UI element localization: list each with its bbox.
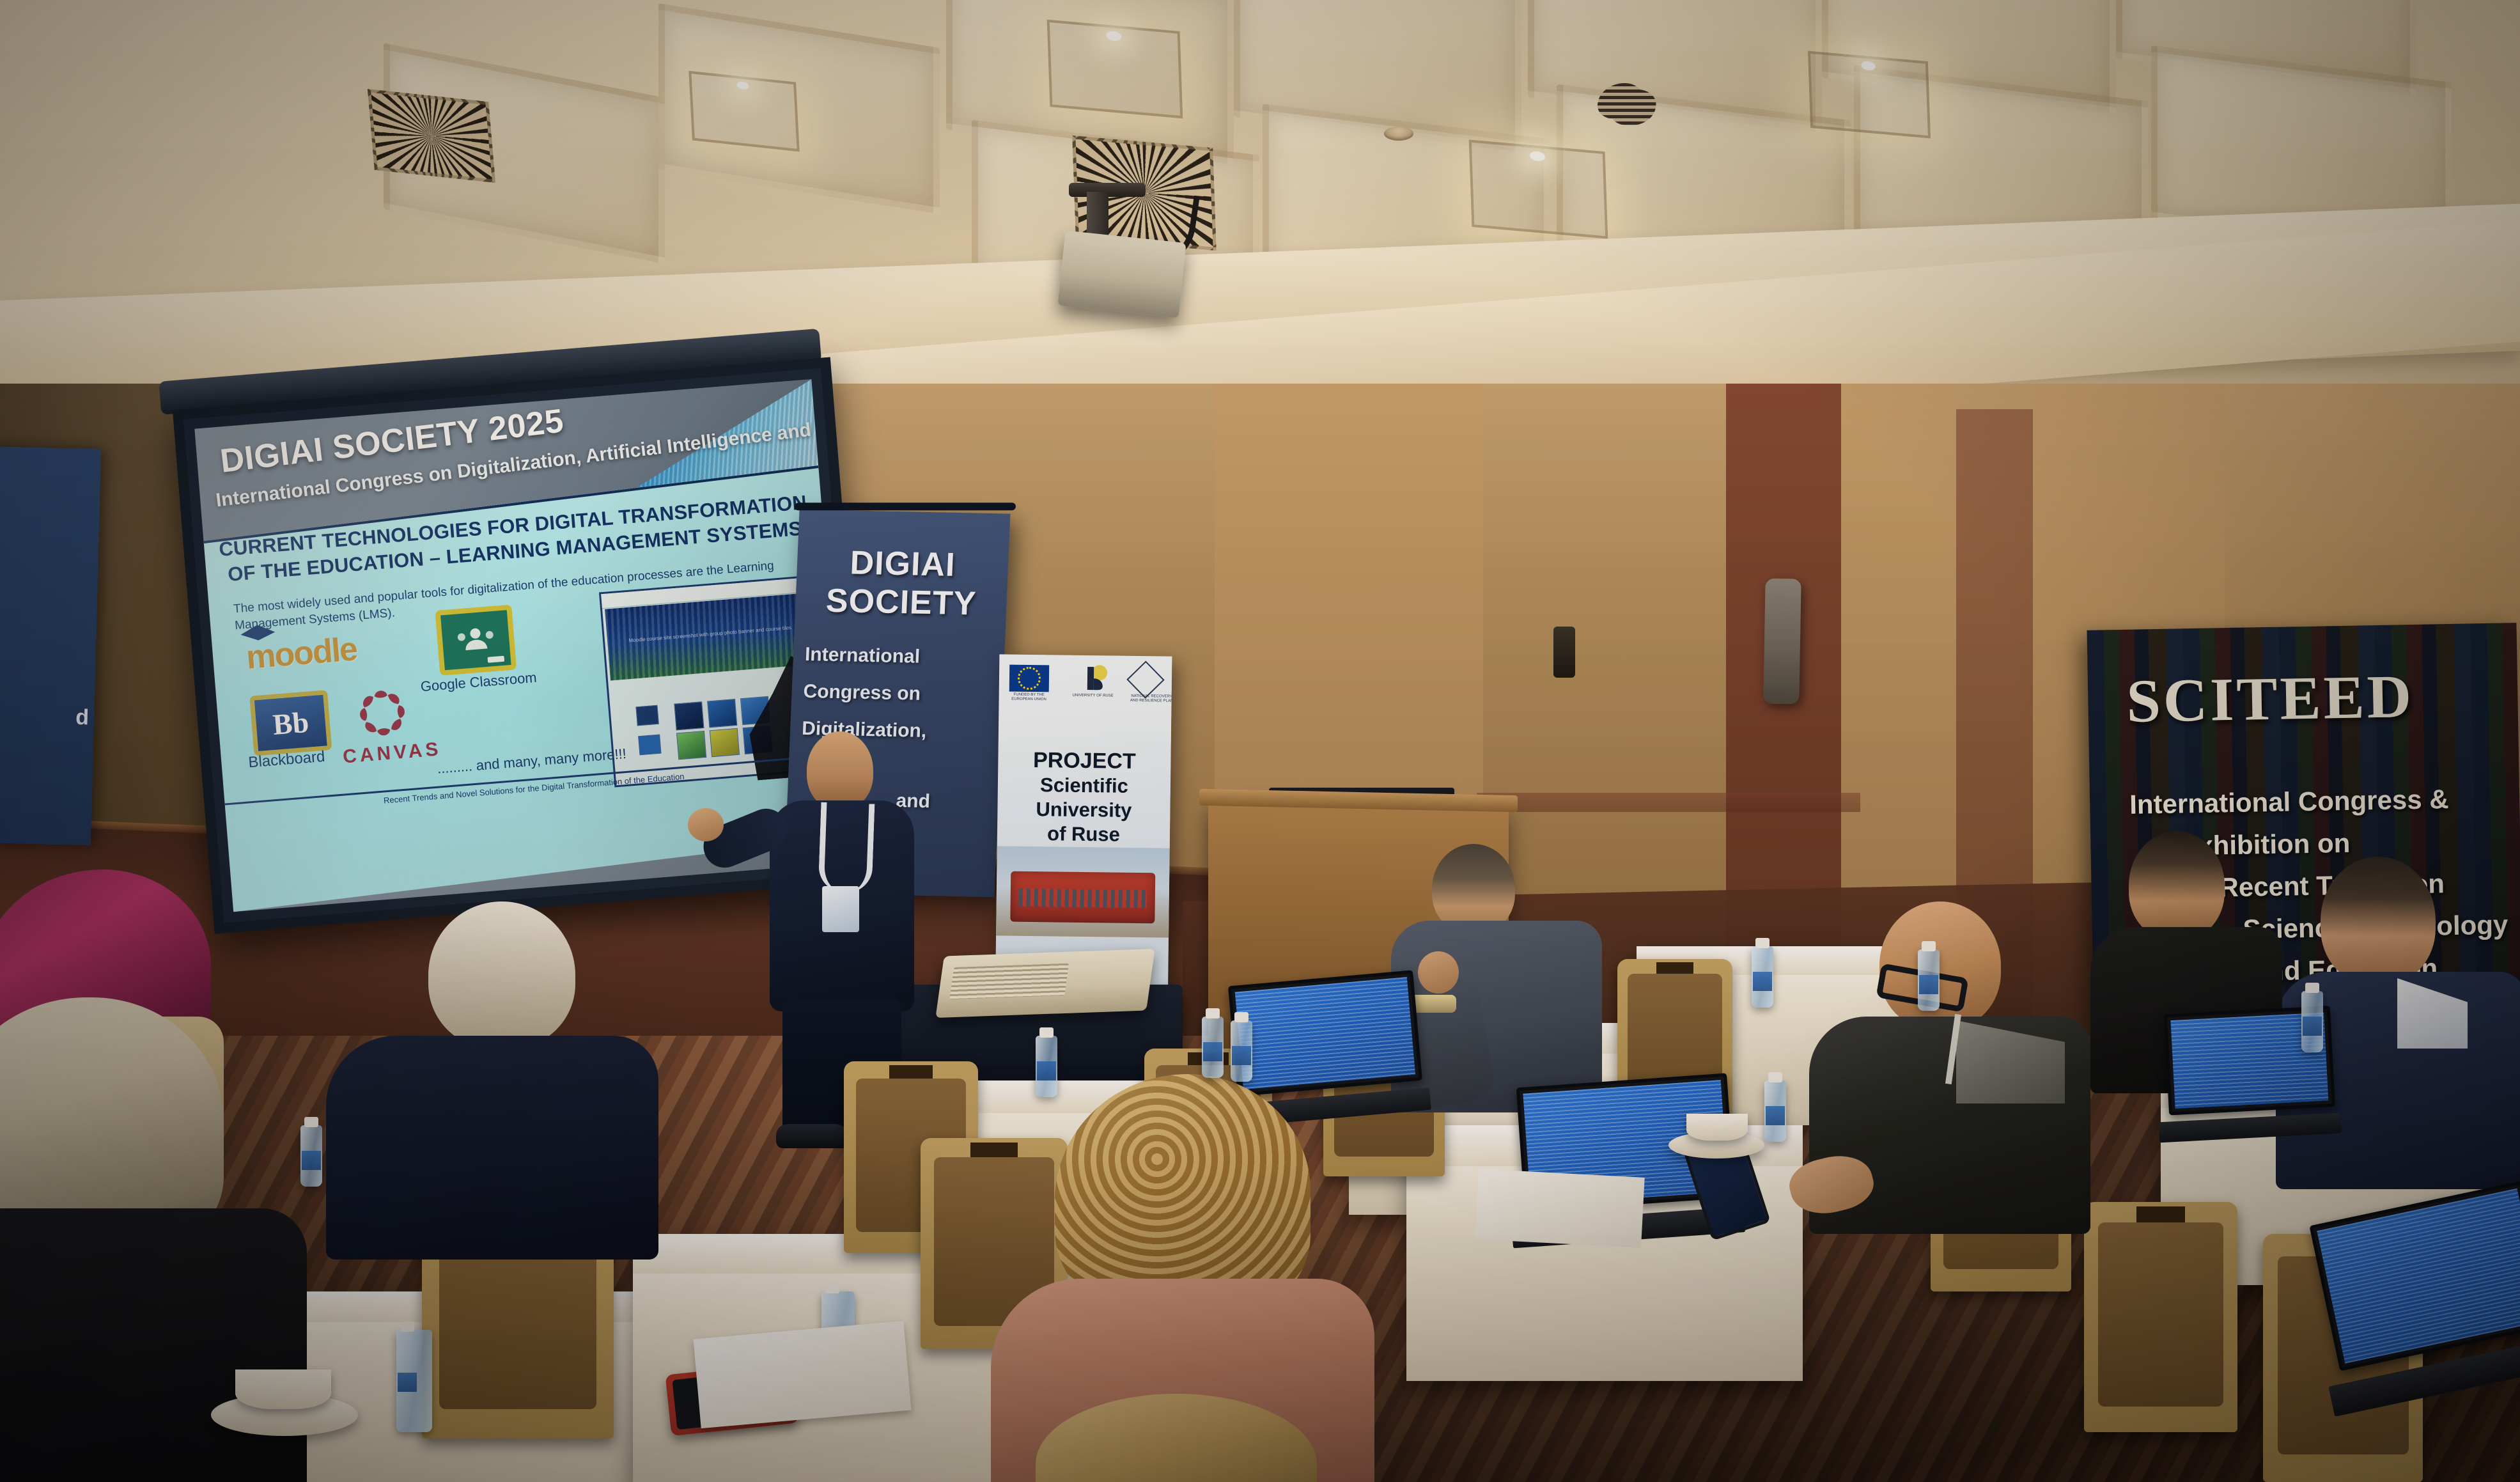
banner-left-text: d xyxy=(75,705,89,731)
presenter-shoe xyxy=(776,1124,852,1148)
course-tile xyxy=(674,701,704,730)
attendee-torso xyxy=(326,1036,658,1260)
banner-left-partial: d xyxy=(0,446,101,846)
coffee-cup xyxy=(235,1369,331,1409)
presenter-head xyxy=(807,731,873,809)
portable-projector xyxy=(935,949,1155,1018)
building-windows xyxy=(1019,889,1147,909)
eraser-icon xyxy=(488,656,505,663)
moodle-logo: moodle xyxy=(245,630,358,677)
presenter-badge xyxy=(822,886,859,932)
ceiling-downlight xyxy=(1047,20,1183,119)
chair-notch xyxy=(1656,962,1693,989)
water-bottle xyxy=(2301,991,2323,1052)
hvac-vent-icon xyxy=(368,89,495,183)
nrrp-logo-icon xyxy=(1126,660,1164,698)
banner-project-logos: FUNDED BY THE EUROPEAN UNION UNIVERSITY … xyxy=(999,664,1172,705)
water-bottle xyxy=(1764,1080,1786,1142)
blackboard-mark: Bb xyxy=(254,695,327,751)
water-bottle xyxy=(300,1125,322,1187)
attendee-head xyxy=(2129,831,2225,940)
water-bottle xyxy=(1752,946,1773,1008)
attendee-lanyard xyxy=(1945,1014,2016,1092)
banner-digiai-title2: SOCIETY xyxy=(795,581,1007,624)
google-classroom-label: Google Classroom xyxy=(420,669,538,696)
attendee-head xyxy=(1036,1394,1317,1482)
presenter-hand xyxy=(688,808,724,841)
course-tile xyxy=(707,699,737,728)
ceiling-downlight xyxy=(688,71,799,152)
ceiling-projector xyxy=(1057,230,1186,318)
wall-fixture xyxy=(1553,627,1575,678)
google-classroom-logo xyxy=(435,605,517,676)
eu-logo-caption: FUNDED BY THE EUROPEAN UNION xyxy=(1007,693,1052,702)
banner-project-line2: Scientific xyxy=(998,773,1171,798)
water-bottle xyxy=(396,1330,432,1432)
banquet-chair xyxy=(2084,1202,2237,1432)
banner-digiai-sub1: International xyxy=(804,644,999,669)
banner-rod xyxy=(795,503,1016,510)
attendee-head xyxy=(1432,844,1515,933)
blackboard-logo: Bb xyxy=(249,690,332,756)
banner-project-building-photo xyxy=(996,846,1170,937)
sprinkler-icon xyxy=(1384,127,1413,141)
attendee-head xyxy=(428,901,575,1049)
water-bottle xyxy=(1918,949,1940,1011)
attendee-white-hair xyxy=(307,901,665,1260)
banner-sciteed-line1: International Congress & xyxy=(2129,784,2449,820)
ruse-logo-caption: UNIVERSITY OF RUSE xyxy=(1071,694,1116,698)
water-bottle xyxy=(1036,1036,1057,1097)
attendee-hand xyxy=(1418,951,1459,994)
laptop-screen xyxy=(1235,977,1415,1089)
wall-speaker xyxy=(1763,579,1801,705)
water-bottle xyxy=(1231,1020,1252,1082)
attendee-front-row xyxy=(1036,1394,1330,1482)
canvas-logo xyxy=(355,686,409,740)
banner-digiai-title1: DIGIAI xyxy=(797,543,1009,586)
screenshot-hero-caption: Moodle course site screenshot with group… xyxy=(628,625,791,643)
banner-project-line4: of Ruse xyxy=(997,822,1170,846)
building-shape xyxy=(1010,871,1156,923)
water-bottle xyxy=(1202,1017,1224,1078)
chair-notch xyxy=(2136,1206,2186,1244)
course-tile xyxy=(635,705,658,726)
banner-sciteed-title: SCITEED xyxy=(2126,658,2520,737)
ceiling-downlight xyxy=(1808,51,1931,139)
banner-project-line1: PROJECT xyxy=(998,747,1171,774)
eu-stars-icon xyxy=(1018,667,1041,690)
projector-vent-icon xyxy=(949,963,1069,1000)
nrrp-logo-caption: NATIONAL RECOVERY AND RESILIENCE PLAN xyxy=(1130,694,1172,703)
notepaper xyxy=(1475,1169,1644,1247)
notepaper xyxy=(694,1321,912,1428)
ceiling-downlight xyxy=(1469,139,1608,238)
university-of-ruse-logo xyxy=(1080,664,1111,693)
attendee-torso xyxy=(0,1208,307,1482)
conference-room-photo: d DIGIAI SOCIETY 2025 International Cong… xyxy=(0,0,2520,1482)
coffee-cup xyxy=(1686,1114,1748,1141)
chair-notch xyxy=(889,1065,932,1096)
people-icon xyxy=(455,626,497,652)
banner-project-line3: University xyxy=(997,797,1170,822)
attendee-head xyxy=(2321,857,2436,985)
eu-flag-icon xyxy=(1009,665,1050,692)
banner-digiai-sub2: Congress on xyxy=(803,681,998,706)
presenter-lanyard xyxy=(818,802,875,894)
